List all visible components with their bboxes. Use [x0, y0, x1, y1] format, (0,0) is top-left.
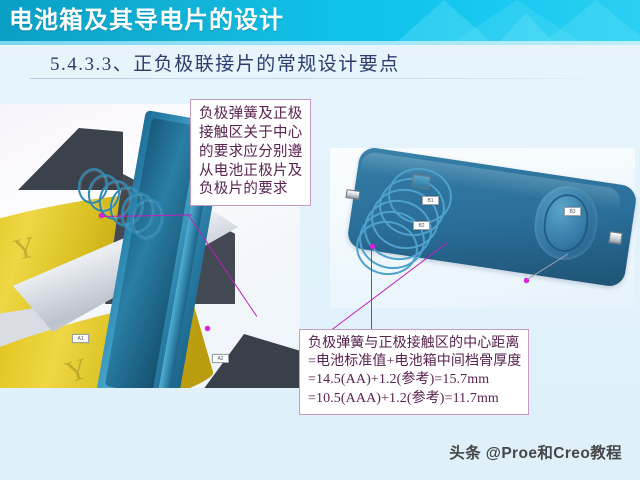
callout2-line-1: 负极弹簧与正极接触区的中心距离 — [308, 335, 521, 353]
callout1-line-4: 从电池正极片及 — [199, 162, 303, 181]
callout2-line-3: =14.5(AA)+1.2(参考)=15.7mm — [308, 371, 521, 389]
cad-tag-b1: B1 — [422, 196, 439, 205]
plate-tab-top — [411, 174, 431, 189]
header-underline — [0, 41, 640, 45]
leader-dot-box1-a — [99, 213, 104, 218]
cad-tag-b3: B3 — [564, 207, 581, 216]
section-subtitle: 5.4.3.3、正负极联接片的常规设计要点 — [50, 49, 400, 76]
callout-box-center-distance-formula: 负极弹簧与正极接触区的中心距离 =电池标准值+电池箱中间档骨厚度 =14.5(A… — [299, 329, 529, 415]
cad-tag-a2: A2 — [212, 354, 229, 363]
callout2-line-4: =10.5(AAA)+1.2(参考)=11.7mm — [308, 390, 521, 408]
cad-tag-b2: B2 — [413, 221, 430, 230]
callout2-line-2: =电池标准值+电池箱中间档骨厚度 — [308, 353, 521, 371]
cad-tag-a1: A1 — [72, 334, 89, 343]
callout1-line-3: 的要求应分别遵 — [199, 143, 303, 162]
leader-dot-box1-b — [205, 326, 210, 331]
leader-dot-spring-center — [370, 244, 375, 249]
header-chevron-decor-3 — [546, 0, 640, 41]
watermark-text: 头条 @Proe和Creo教程 — [449, 441, 622, 463]
subtitle-divider — [30, 78, 615, 79]
page-title: 电池箱及其导电片的设计 — [9, 4, 284, 38]
plate-tab-left — [345, 189, 360, 200]
callout1-line-5: 负极片的要求 — [199, 180, 303, 199]
cad-image-contact-strip: B1 B2 B3 — [330, 148, 635, 308]
callout1-line-2: 接触区关于中心 — [199, 124, 303, 143]
leader-line-box2-spring — [371, 246, 372, 330]
slide-canvas: 电池箱及其导电片的设计 5.4.3.3、正负极联接片的常规设计要点 Y Y A1… — [0, 0, 640, 480]
slide-header-bar: 电池箱及其导电片的设计 — [0, 0, 640, 41]
callout-box-negative-spring-requirement: 负极弹簧及正极 接触区关于中心 的要求应分别遵 从电池正极片及 负极片的要求 — [190, 99, 311, 206]
callout1-line-1: 负极弹簧及正极 — [199, 105, 303, 124]
plate-tab-right — [608, 231, 623, 245]
header-chevron-decor-4 — [500, 13, 552, 41]
